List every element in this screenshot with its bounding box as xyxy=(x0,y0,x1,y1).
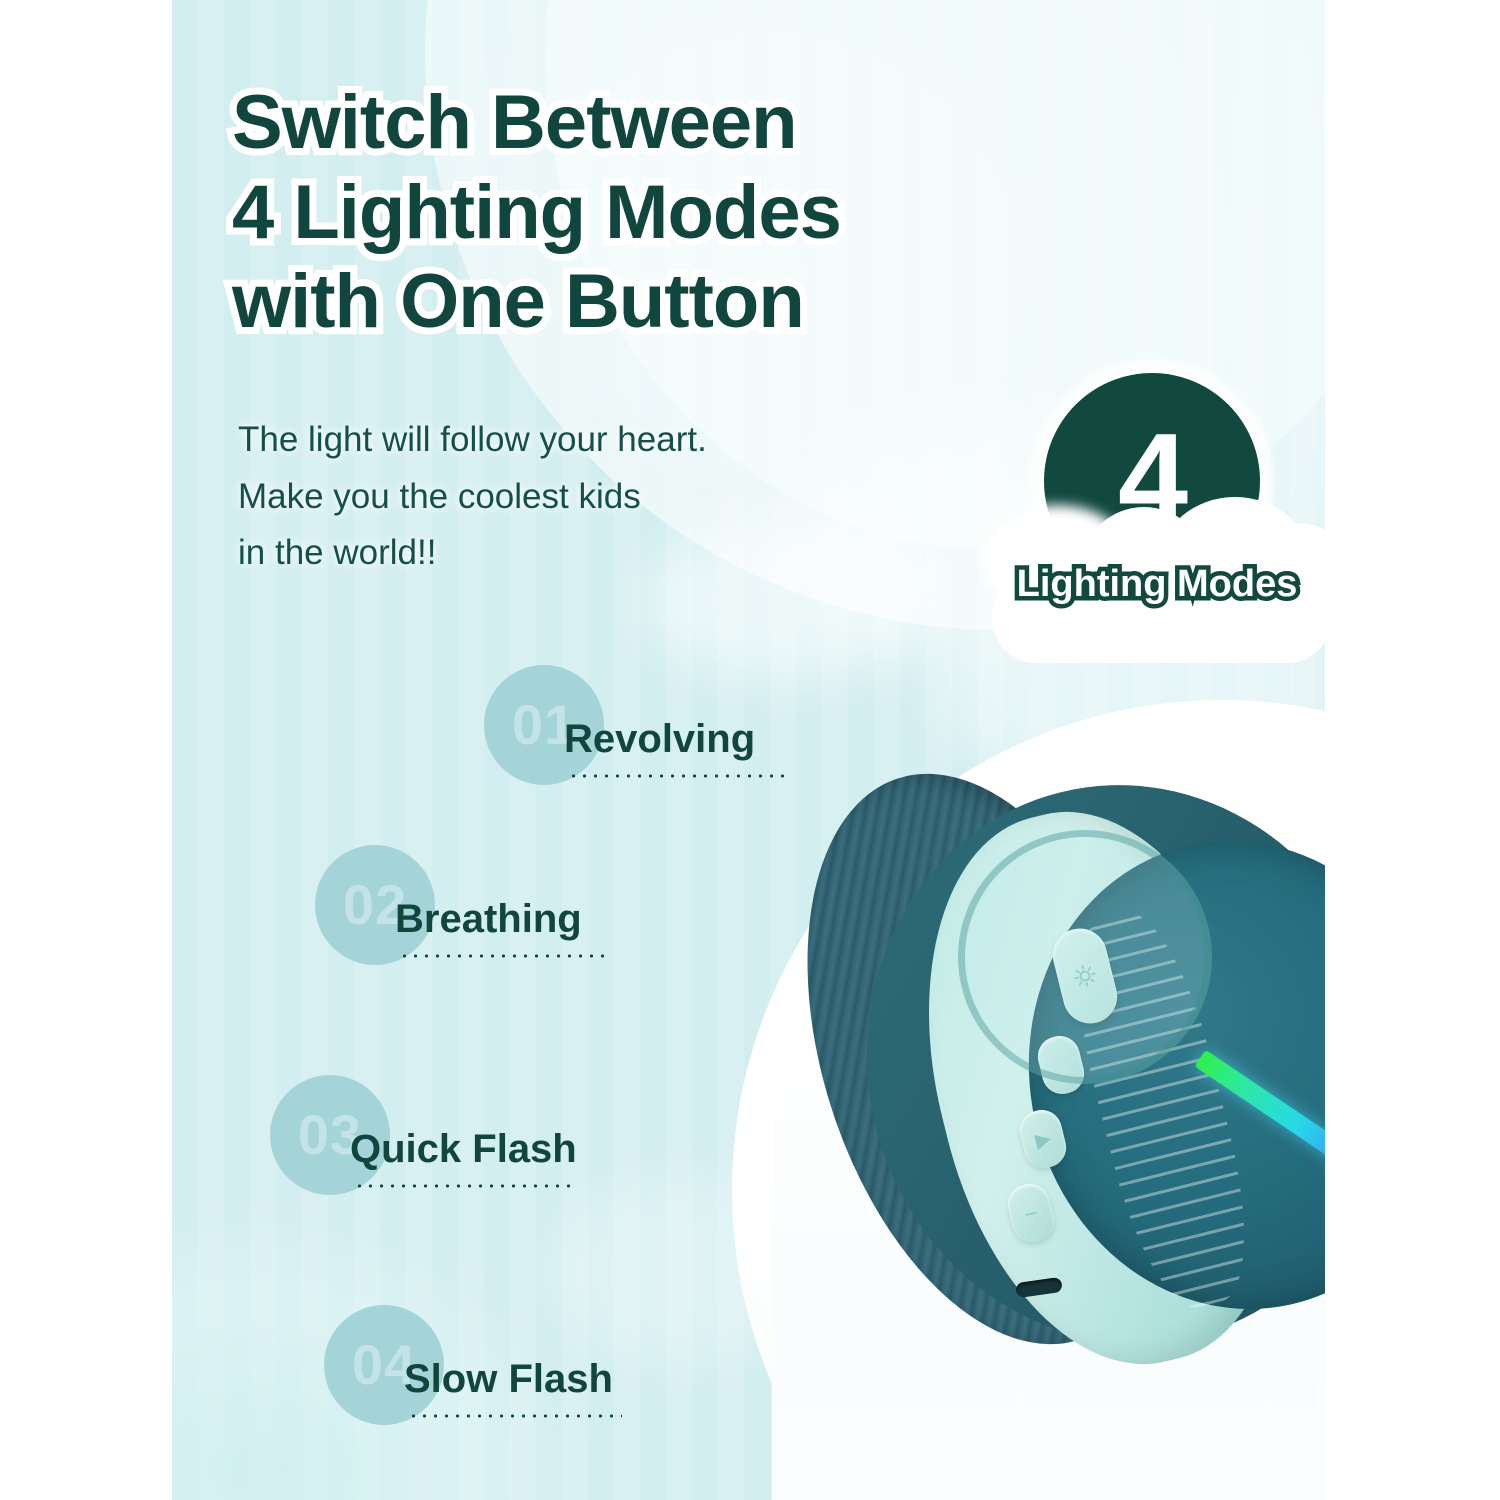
button-highlight-ring xyxy=(958,830,1212,1084)
headphones-product-image: ▶ – xyxy=(772,690,1325,1500)
volume-minus-icon: – xyxy=(1023,1200,1039,1225)
mode-label-04: Slow Flash xyxy=(404,1357,613,1402)
mode-label-02: Breathing xyxy=(395,897,582,942)
mode-label-01: Revolving xyxy=(564,717,755,762)
mode-label-03: Quick Flash xyxy=(350,1127,577,1172)
mode-underline-02 xyxy=(399,953,607,959)
mode-underline-01 xyxy=(568,773,786,779)
subtitle-text: The light will follow your heart. Make y… xyxy=(238,412,938,582)
infographic-canvas: ▶ – Switch Between 4 Lighting Modes with… xyxy=(0,0,1500,1500)
mint-content-panel: ▶ – Switch Between 4 Lighting Modes with… xyxy=(172,0,1325,1500)
badge-label: Lighting Modes xyxy=(992,563,1322,606)
lighting-modes-badge: 4 Lighting Modes xyxy=(992,355,1322,645)
mode-underline-04 xyxy=(408,1413,622,1419)
play-pause-icon: ▶ xyxy=(1033,1125,1054,1153)
page-title: Switch Between 4 Lighting Modes with One… xyxy=(232,78,1182,347)
mode-underline-03 xyxy=(354,1183,574,1189)
